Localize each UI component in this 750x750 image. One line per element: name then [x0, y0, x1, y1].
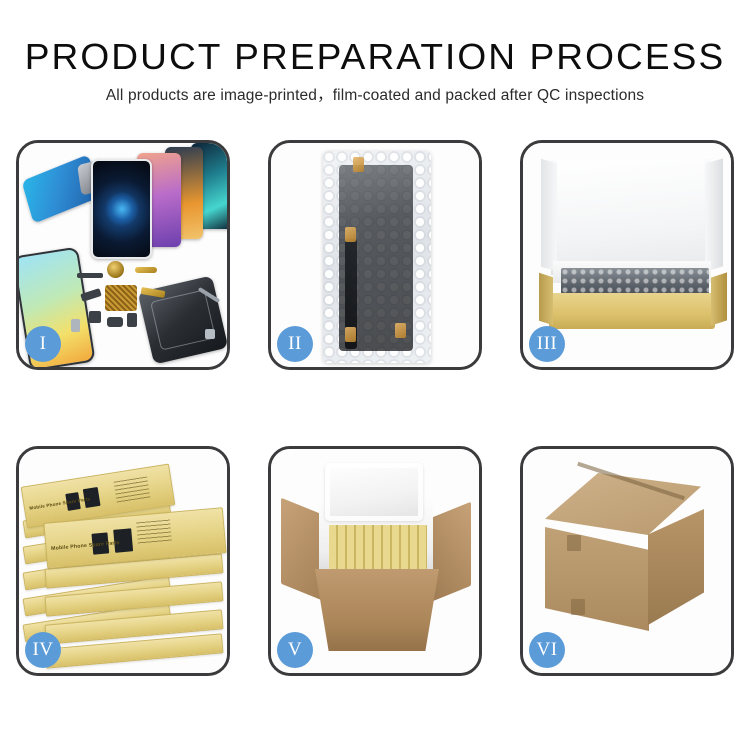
process-step-panel-5: V [268, 446, 482, 676]
speaker-module-part [107, 261, 124, 278]
carton-body [315, 569, 439, 651]
screw-set-part [71, 319, 80, 332]
page-title: PRODUCT PREPARATION PROCESS [0, 36, 750, 78]
tape-piece-bottom-right [395, 323, 406, 338]
small-screw-part [205, 329, 215, 339]
process-steps-grid: I II III [16, 140, 734, 676]
black-screen-phone-graphic [91, 159, 152, 259]
step-badge-3: III [529, 326, 565, 362]
vibration-motor-part [89, 311, 101, 323]
process-step-panel-6: VI [520, 446, 734, 676]
yellow-boxes-inside [329, 525, 427, 569]
step-badge-2: II [277, 326, 313, 362]
step-badge-5: V [277, 632, 313, 668]
bubble-wrapped-contents-graphic [561, 268, 709, 296]
antenna-strip-part [77, 273, 103, 278]
foam-box-lid [325, 463, 423, 521]
logic-board-part [105, 285, 137, 311]
sim-tray-part [127, 313, 137, 327]
flex-connector-part [135, 267, 157, 273]
process-step-panel-1: I [16, 140, 230, 370]
page-subtitle: All products are image-printed，film-coat… [0, 86, 750, 106]
process-step-panel-4: Mobile Phone Spare Parts Mobile Phone Sp… [16, 446, 230, 676]
product-preparation-infographic: PRODUCT PREPARATION PROCESS All products… [0, 0, 750, 750]
tape-piece-bottom-left [345, 327, 356, 342]
blue-back-panel-graphic [22, 154, 101, 224]
process-step-panel-2: II [268, 140, 482, 370]
carton-tab-lower [571, 599, 585, 615]
tape-piece-top [353, 157, 364, 172]
step-badge-1: I [25, 326, 61, 362]
step-badge-4: IV [25, 632, 61, 668]
header: PRODUCT PREPARATION PROCESS All products… [0, 36, 750, 106]
process-step-panel-3: III [520, 140, 734, 370]
carton-tab-upper [567, 535, 581, 551]
yellow-box-tray-graphic [549, 293, 715, 329]
tape-piece-middle [345, 227, 356, 242]
camera-module-part [107, 317, 123, 327]
foam-lid-graphic [551, 159, 711, 275]
carton-front-face [545, 527, 649, 631]
bubble-wrap-sleeve [323, 151, 431, 363]
lid-textlines-front [136, 520, 172, 545]
step-badge-6: VI [529, 632, 565, 668]
